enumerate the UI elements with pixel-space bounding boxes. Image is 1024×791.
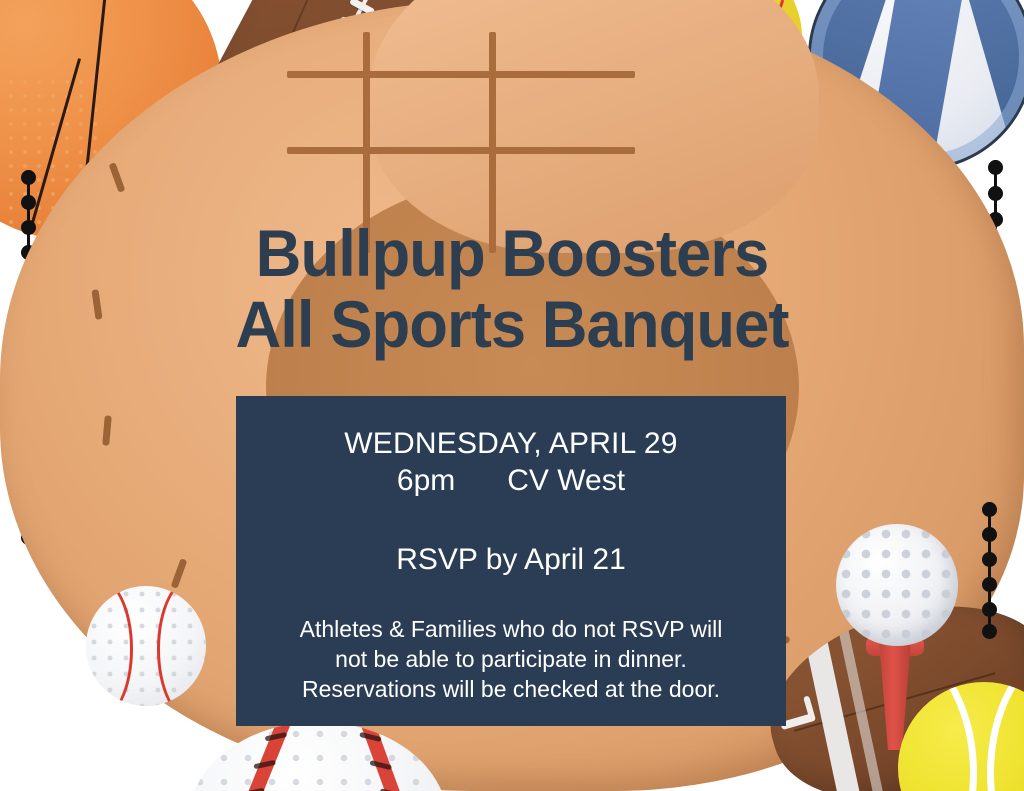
rsvp-note-line-3: Reservations will be checked at the door… (252, 675, 770, 705)
glove-stitch (170, 558, 187, 589)
bead (982, 527, 997, 542)
bead (982, 552, 997, 567)
bead (982, 577, 997, 592)
bead-chain-rod (988, 502, 991, 638)
tennis-ball-curve (898, 682, 977, 791)
rsvp-note-line-2: not be able to participate in dinner. (252, 645, 770, 675)
glove-web-strap (287, 147, 635, 154)
baseball-texture (188, 722, 448, 791)
tennis-ball-curve (987, 682, 1024, 791)
glove-stitch (102, 415, 112, 445)
bead (21, 170, 36, 185)
event-details-box: WEDNESDAY, APRIL 29 6pmCV West RSVP by A… (236, 396, 786, 726)
event-time: 6pm (397, 464, 455, 497)
glove-web-strap (287, 71, 635, 78)
baseball-large-icon (188, 722, 448, 791)
bead (982, 624, 997, 639)
golf-ball-texture (836, 524, 958, 646)
title-line-1: Bullpup Boosters (20, 218, 1003, 289)
event-date: WEDNESDAY, APRIL 29 (236, 426, 786, 461)
baseball-stitch-arc (157, 586, 206, 706)
golf-ball-icon (836, 524, 958, 646)
event-location: CV West (507, 464, 625, 497)
poster-canvas: Bullpup Boosters All Sports Banquet WEDN… (0, 0, 1024, 791)
bead (982, 502, 997, 517)
bead-chain-vertical-lower-right (982, 502, 998, 638)
bead (988, 186, 1003, 201)
glove-stitch (109, 162, 126, 193)
page-title: Bullpup Boosters All Sports Banquet (20, 218, 1003, 361)
bead (982, 602, 997, 617)
rsvp-note: Athletes & Families who do not RSVP will… (236, 615, 786, 705)
baseball-icon (86, 586, 206, 706)
title-line-2: All Sports Banquet (20, 289, 1003, 360)
rsvp-note-line-1: Athletes & Families who do not RSVP will (252, 615, 770, 645)
bead (21, 195, 36, 210)
rsvp-deadline: RSVP by April 21 (236, 543, 786, 577)
bead (988, 160, 1003, 175)
tennis-ball-icon (898, 682, 1024, 791)
event-time-location: 6pmCV West (236, 463, 786, 498)
